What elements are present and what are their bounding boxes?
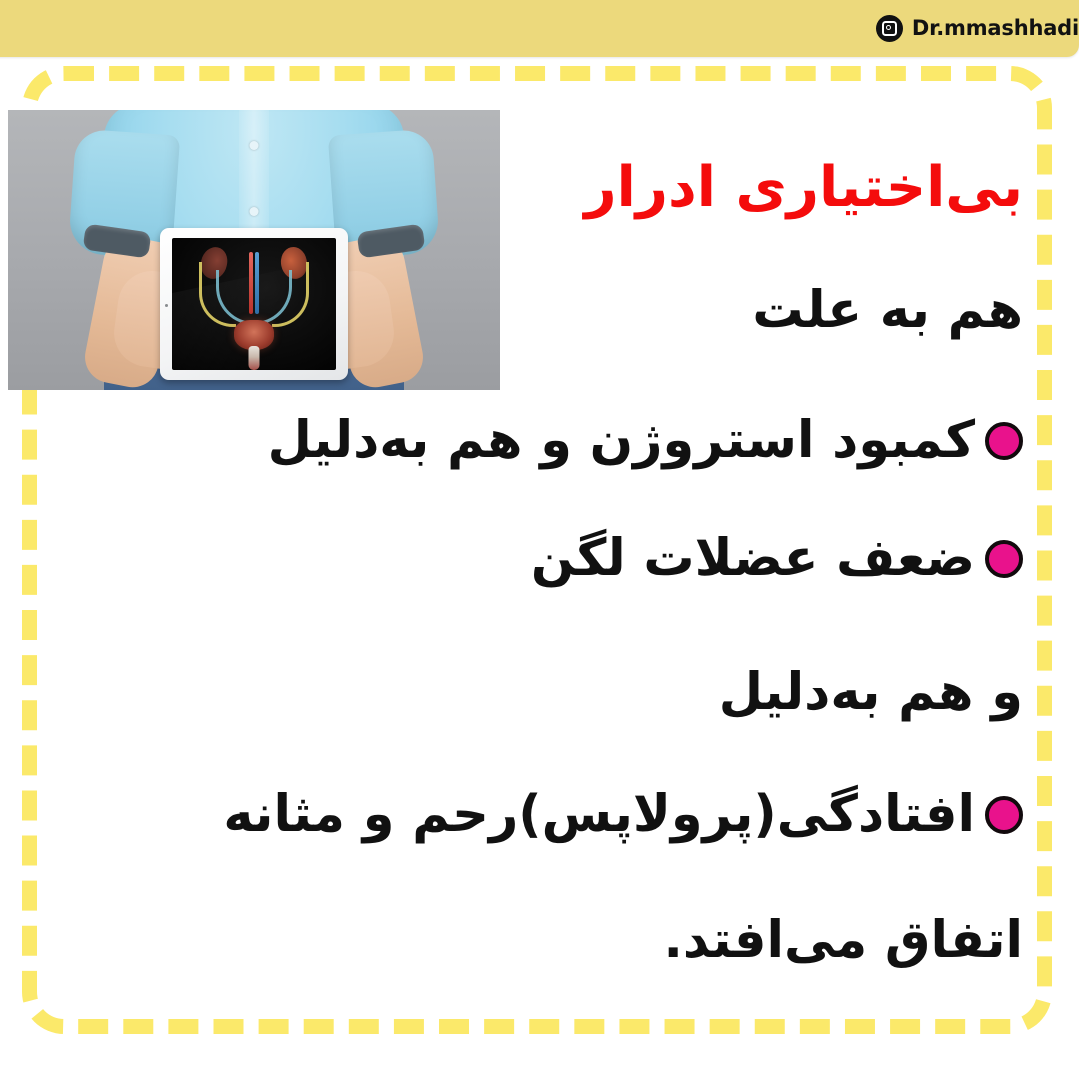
bullet-row-1: کمبود استروژن و هم به‌دلیل	[268, 415, 1023, 466]
page-title: بی‌اختیاری ادرار	[584, 160, 1023, 216]
body-line-4: و هم به‌دلیل	[719, 667, 1023, 718]
hero-photo	[8, 110, 500, 390]
body-line-1: هم به علت	[752, 285, 1023, 336]
vena-cava-illustration	[255, 252, 259, 314]
bullet-dot-icon	[985, 422, 1023, 460]
shirt-button-upper	[250, 141, 259, 150]
tablet-screen	[172, 238, 336, 370]
account-handle-label: Dr.mmashhadi	[912, 18, 1079, 39]
bullet-dot-icon	[985, 796, 1023, 834]
body-line-6: اتفاق می‌افتد.	[663, 915, 1023, 966]
body-line-2: کمبود استروژن و هم به‌دلیل	[268, 415, 1023, 469]
account-handle-bar: Dr.mmashhadi	[0, 0, 1079, 57]
bullet-dot-icon	[985, 540, 1023, 578]
tablet-camera-icon	[165, 304, 168, 307]
handle-group: Dr.mmashhadi	[776, 15, 1079, 42]
urethra-illustration	[249, 346, 260, 370]
body-line-4-text: و هم به‌دلیل	[719, 667, 1023, 718]
body-line-5: افتادگی(پرولاپس)رحم و مثانه	[223, 789, 1023, 843]
infographic-poster: Dr.mmashhadi	[0, 0, 1079, 1079]
shirt-button-lower	[250, 207, 259, 216]
bullet-row-3: افتادگی(پرولاپس)رحم و مثانه	[223, 789, 1023, 840]
body-line-2-text: کمبود استروژن و هم به‌دلیل	[268, 415, 975, 466]
body-line-3: ضعف عضلات لگن	[531, 533, 1023, 587]
instagram-icon	[876, 15, 903, 42]
body-line-6-text: اتفاق می‌افتد.	[663, 915, 1023, 966]
aorta-illustration	[249, 252, 253, 314]
tablet-device	[160, 228, 348, 380]
body-line-5-text: افتادگی(پرولاپس)رحم و مثانه	[223, 789, 975, 840]
body-line-3-text: ضعف عضلات لگن	[531, 533, 975, 584]
bullet-row-2: ضعف عضلات لگن	[531, 533, 1023, 584]
body-line-1-text: هم به علت	[752, 285, 1023, 336]
